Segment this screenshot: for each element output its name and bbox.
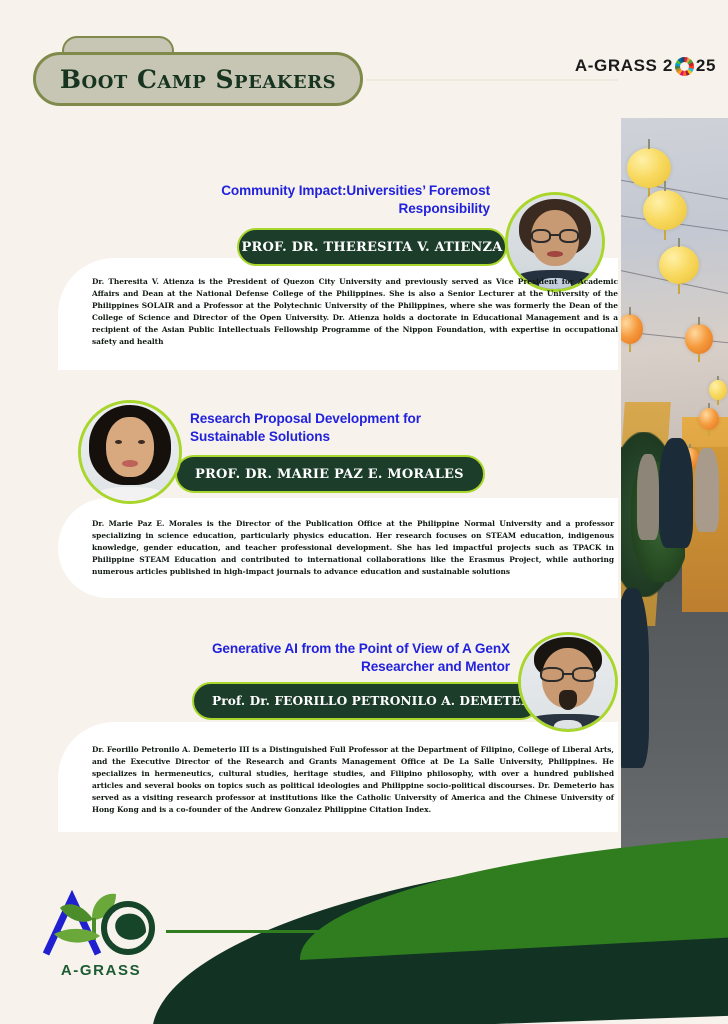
footer-rule	[166, 930, 644, 933]
brand-suffix: 25	[696, 56, 716, 76]
speaker-name-pill[interactable]: Prof. Dr. FEORILLO PETRONILO A. DEMETERI…	[192, 682, 540, 720]
speaker-topic: Community Impact:Universities’ Foremost …	[170, 182, 490, 218]
speaker-bio: Dr. Marie Paz E. Morales is the Director…	[92, 518, 614, 578]
lantern-icon	[699, 408, 719, 430]
speaker-photo-demeterio	[521, 635, 615, 729]
photo-pedestrian	[695, 448, 719, 532]
lantern-icon	[709, 380, 727, 400]
photo-pedestrian	[621, 588, 649, 768]
speaker-topic: Generative AI from the Point of View of …	[180, 640, 510, 676]
logo-label: A-GRASS	[36, 962, 166, 979]
speaker-name: Prof. Dr. FEORILLO PETRONILO A. DEMETERI…	[212, 694, 570, 708]
avatar	[518, 632, 618, 732]
side-photo-strip	[621, 118, 728, 866]
speaker-photo-morales	[81, 403, 179, 501]
header-rule	[366, 79, 618, 81]
speaker-bio: Dr. Feorillo Petronilo A. Demeterio III …	[92, 744, 614, 816]
speaker-name-pill[interactable]: PROF. DR. THERESITA V. ATIENZA	[237, 228, 507, 266]
a-grass-sprout-logo: A-GRASS	[36, 888, 166, 984]
speaker-bio: Dr. Theresita V. Atienza is the Presiden…	[92, 276, 618, 348]
sdg-wheel-icon	[675, 57, 694, 76]
header-badge: Boot Camp Speakers	[33, 52, 363, 106]
speaker-photo-atienza	[508, 195, 602, 289]
speaker-name-pill[interactable]: PROF. DR. MARIE PAZ E. MORALES	[175, 455, 485, 493]
brand-prefix: A-GRASS 2	[575, 56, 673, 76]
page-title: Boot Camp Speakers	[60, 65, 336, 94]
photo-pedestrian	[637, 454, 659, 540]
avatar	[78, 400, 182, 504]
speaker-topic: Research Proposal Development for Sustai…	[190, 410, 490, 446]
speaker-name: PROF. DR. MARIE PAZ E. MORALES	[195, 467, 464, 482]
brand-logo-year: A-GRASS 2 25	[575, 56, 716, 76]
lantern-icon	[643, 190, 687, 230]
lantern-icon	[659, 246, 699, 284]
speaker-name: PROF. DR. THERESITA V. ATIENZA	[242, 240, 503, 255]
logo-mark-icon	[36, 888, 166, 966]
poster-page: Boot Camp Speakers A-GRASS 2 25 Communit…	[0, 0, 728, 1024]
lantern-icon	[685, 324, 713, 354]
photo-pedestrian	[659, 438, 693, 548]
